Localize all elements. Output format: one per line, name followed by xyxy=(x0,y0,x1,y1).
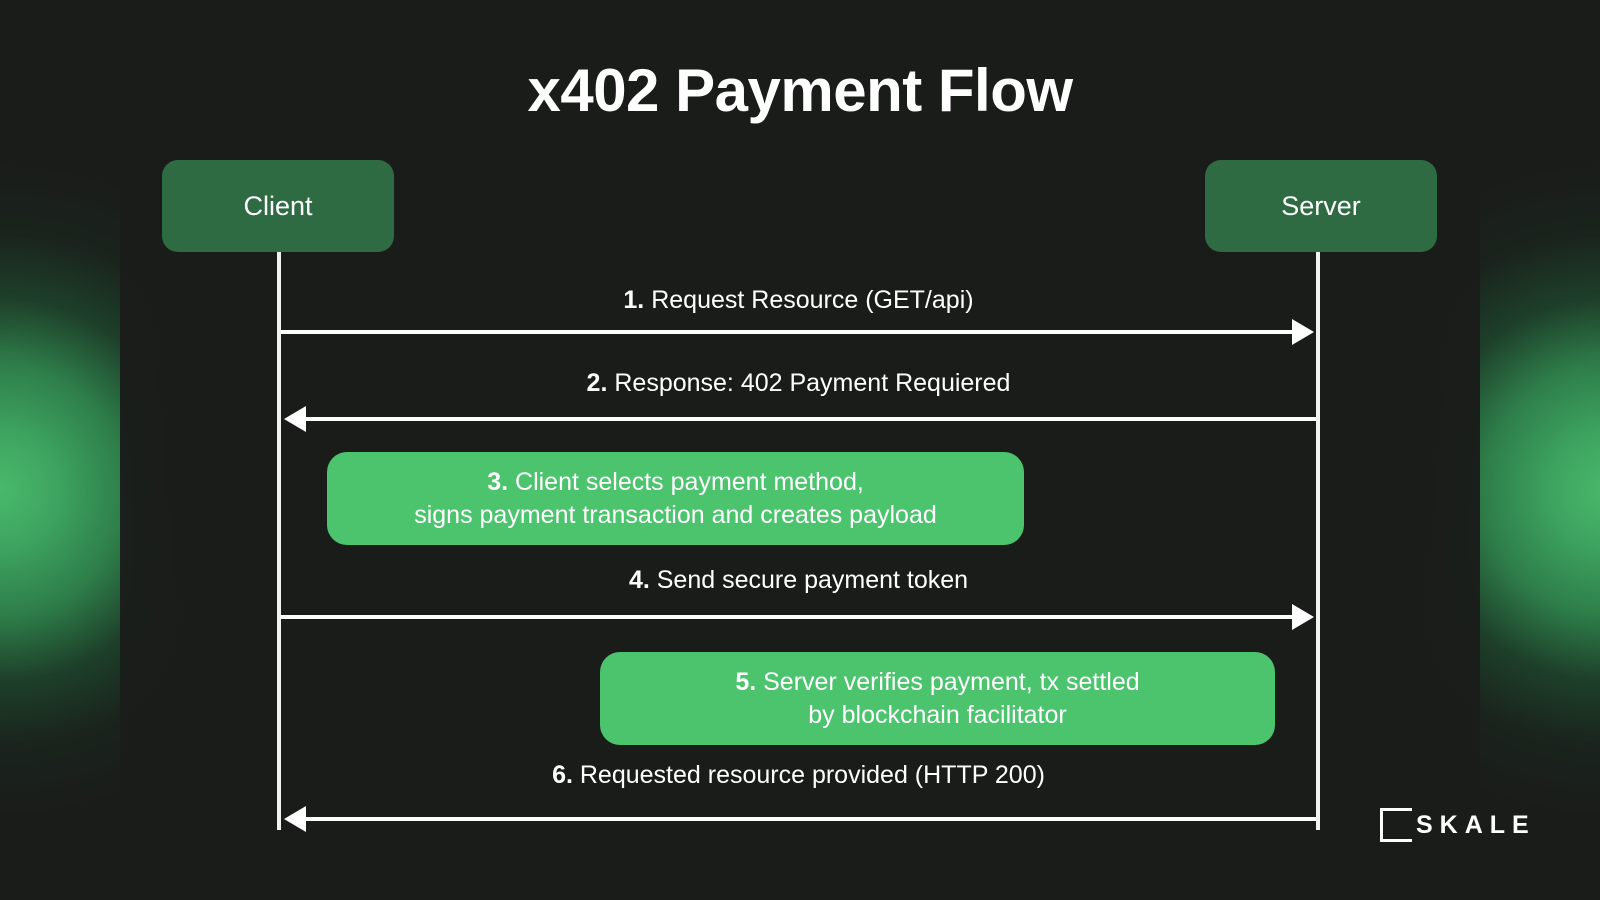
lifeline-client xyxy=(277,252,281,830)
message-text-2: Response: 402 Payment Requiered xyxy=(614,369,1010,397)
message-arrow-1 xyxy=(281,330,1294,334)
message-arrow-4 xyxy=(281,615,1294,619)
message-text-1: Request Resource (GET/api) xyxy=(651,286,973,314)
skale-bracket-icon xyxy=(1380,808,1412,842)
message-label-1: 1. Request Resource (GET/api) xyxy=(281,286,1316,315)
message-text-4: Send secure payment token xyxy=(657,566,968,594)
message-text-6: Requested resource provided (HTTP 200) xyxy=(580,761,1045,789)
actor-box-client: Client xyxy=(162,160,394,252)
background-glow-right xyxy=(1280,160,1600,820)
skale-logo: SKALE xyxy=(1380,808,1536,842)
message-label-2: 2. Response: 402 Payment Requiered xyxy=(281,369,1316,398)
message-arrowhead-6 xyxy=(284,806,306,832)
lifeline-server xyxy=(1316,252,1320,830)
page-title: x402 Payment Flow xyxy=(0,56,1600,125)
message-number-6: 6. xyxy=(552,761,573,789)
note-number-5: 5. xyxy=(735,668,756,696)
note-box-3: 3. Client selects payment method, signs … xyxy=(327,452,1024,545)
diagram-canvas: x402 Payment Flow Client Server 1. Reque… xyxy=(0,0,1600,900)
note-number-3: 3. xyxy=(487,468,508,496)
note-text-3-1: Client selects payment method, xyxy=(515,468,864,496)
message-number-4: 4. xyxy=(629,566,650,594)
message-label-4: 4. Send secure payment token xyxy=(281,566,1316,595)
message-arrowhead-4 xyxy=(1292,604,1314,630)
note-text-5-1: Server verifies payment, tx settled xyxy=(763,668,1140,696)
note-box-5: 5. Server verifies payment, tx settled b… xyxy=(600,652,1275,745)
note-line-3-1: 3. Client selects payment method, xyxy=(487,466,864,499)
note-line-3-2: signs payment transaction and creates pa… xyxy=(414,499,937,532)
message-arrowhead-2 xyxy=(284,406,306,432)
message-number-2: 2. xyxy=(587,369,608,397)
message-arrow-2 xyxy=(305,417,1316,421)
message-label-6: 6. Requested resource provided (HTTP 200… xyxy=(281,761,1316,790)
message-arrow-6 xyxy=(305,817,1316,821)
actor-label-server: Server xyxy=(1281,191,1361,222)
note-line-5-1: 5. Server verifies payment, tx settled xyxy=(735,666,1139,699)
actor-label-client: Client xyxy=(243,191,312,222)
skale-logo-text: SKALE xyxy=(1416,811,1536,840)
background-glow-top xyxy=(420,0,1180,270)
message-number-1: 1. xyxy=(623,286,644,314)
note-line-5-2: by blockchain facilitator xyxy=(808,699,1066,732)
message-arrowhead-1 xyxy=(1292,319,1314,345)
actor-box-server: Server xyxy=(1205,160,1437,252)
